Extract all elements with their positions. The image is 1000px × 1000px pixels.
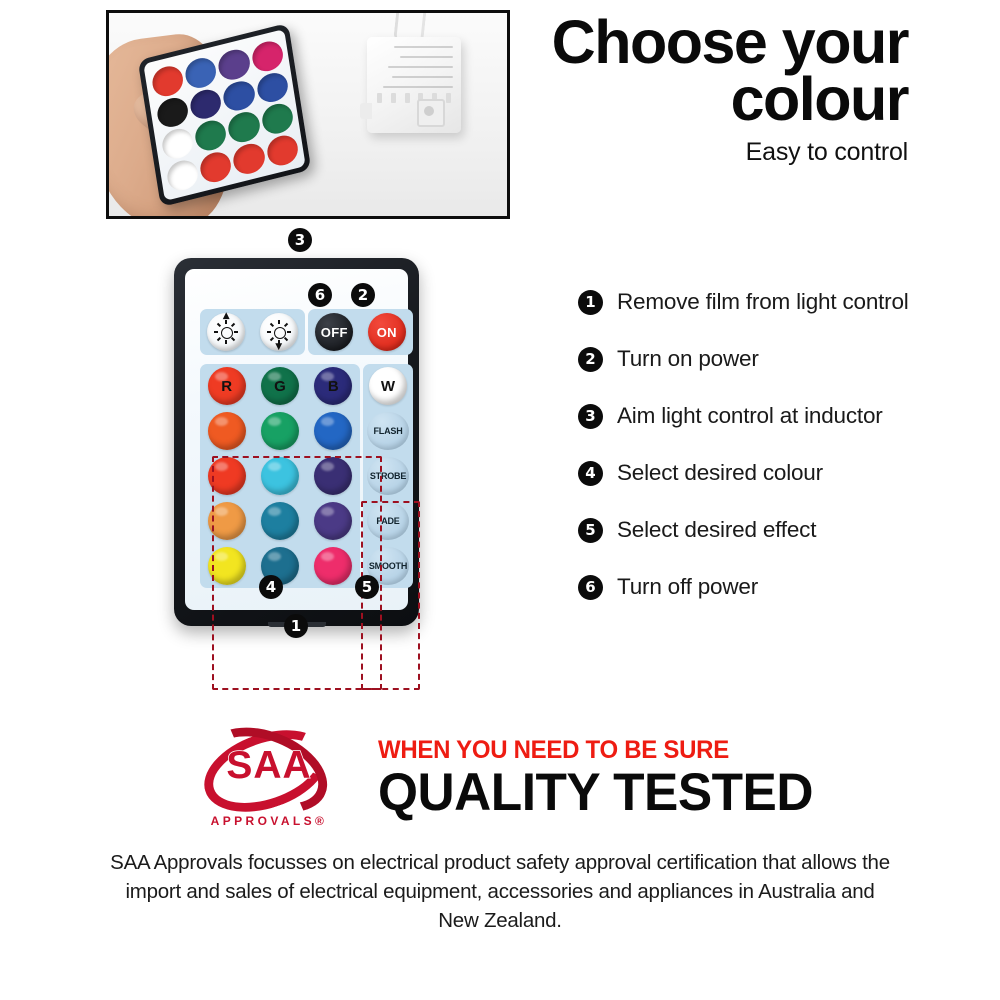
photo-remote-button xyxy=(265,133,300,169)
instruction-step: 6Turn off power xyxy=(578,563,978,611)
instruction-step: 4Select desired colour xyxy=(578,449,978,497)
brightness-up-button[interactable]: ▲ xyxy=(207,313,245,351)
saa-paragraph: SAA Approvals focusses on electrical pro… xyxy=(110,848,890,935)
step-label: Remove film from light control xyxy=(617,289,909,315)
saa-logo: SAA APPROVALS® xyxy=(196,728,342,832)
headline-subtitle: Easy to control xyxy=(552,138,908,167)
product-photo xyxy=(106,10,510,219)
step-number-badge: 1 xyxy=(578,290,603,315)
color-button[interactable] xyxy=(208,457,246,495)
led-controller-box xyxy=(367,37,461,133)
remote-face: ▲ ▼ xyxy=(185,269,408,610)
power-pad: OFF ON xyxy=(308,309,413,355)
photo-remote-button xyxy=(232,141,267,177)
effect-button-label: FADE xyxy=(376,516,399,526)
saa-heading: QUALITY TESTED xyxy=(378,766,813,819)
photo-remote-button-grid xyxy=(150,38,299,193)
power-off-label: OFF xyxy=(321,325,348,340)
remote-control-diagram: ▲ ▼ xyxy=(174,258,419,626)
photo-remote-button xyxy=(255,70,290,106)
step-number-badge: 5 xyxy=(578,518,603,543)
instruction-steps: 1Remove film from light control2Turn on … xyxy=(578,278,978,620)
photo-remote-button xyxy=(160,126,195,162)
color-button[interactable] xyxy=(314,547,352,585)
brightness-down-icon: ▼ xyxy=(268,321,290,343)
color-button[interactable] xyxy=(261,412,299,450)
step-label: Aim light control at inductor xyxy=(617,403,883,429)
saa-logo-subtitle: APPROVALS® xyxy=(196,814,342,828)
callout-badge-5: 5 xyxy=(355,575,379,599)
white-button-label: W xyxy=(381,378,395,395)
effect-button[interactable]: FLASH xyxy=(367,412,409,450)
step-label: Turn on power xyxy=(617,346,759,372)
step-number-badge: 3 xyxy=(578,404,603,429)
color-button[interactable] xyxy=(314,412,352,450)
effect-button-label: SMOOTH xyxy=(369,561,407,571)
color-button[interactable] xyxy=(208,547,246,585)
photo-remote-button xyxy=(165,157,200,193)
color-button[interactable] xyxy=(314,502,352,540)
headline-block: Choose your colour Easy to control xyxy=(552,14,908,167)
white-button-slot: W xyxy=(363,364,413,409)
effect-button-label: FLASH xyxy=(374,426,403,436)
step-label: Select desired effect xyxy=(617,517,816,543)
effect-button-label: STROBE xyxy=(370,471,406,481)
photo-remote-button xyxy=(260,101,295,137)
color-button[interactable]: G xyxy=(261,367,299,405)
effect-button[interactable]: FADE xyxy=(367,502,409,540)
brightness-down-button[interactable]: ▼ xyxy=(260,313,298,351)
controller-mount-tab xyxy=(360,103,372,119)
white-button[interactable]: W xyxy=(369,367,407,405)
callout-badge-6: 6 xyxy=(308,283,332,307)
ir-receiver-port xyxy=(417,99,445,127)
controller-label xyxy=(377,46,453,88)
step-label: Turn off power xyxy=(617,574,758,600)
photo-remote-face xyxy=(143,29,305,201)
instruction-step: 2Turn on power xyxy=(578,335,978,383)
power-on-button[interactable]: ON xyxy=(368,313,406,351)
photo-remote-button xyxy=(155,95,190,131)
instruction-step: 5Select desired effect xyxy=(578,506,978,554)
photo-remote-button xyxy=(250,38,285,74)
step-number-badge: 4 xyxy=(578,461,603,486)
color-button[interactable] xyxy=(261,457,299,495)
color-button-label: B xyxy=(328,378,339,395)
color-button[interactable] xyxy=(208,502,246,540)
callout-badge-4: 4 xyxy=(259,575,283,599)
photo-remote-button xyxy=(227,109,262,145)
callout-badge-3: 3 xyxy=(288,228,312,252)
color-button-grid: RGB xyxy=(200,364,360,588)
remote-top-row: ▲ ▼ xyxy=(200,309,413,355)
callout-badge-1: 1 xyxy=(284,614,308,638)
color-button[interactable] xyxy=(261,502,299,540)
headline-line-2: colour xyxy=(552,71,908,128)
step-number-badge: 6 xyxy=(578,575,603,600)
step-number-badge: 2 xyxy=(578,347,603,372)
color-button[interactable]: B xyxy=(314,367,352,405)
brightness-pad: ▲ ▼ xyxy=(200,309,305,355)
promo-page: Choose your colour Easy to control 1Remo… xyxy=(0,0,1000,1000)
photo-remote-button xyxy=(194,118,229,154)
callout-badge-2: 2 xyxy=(351,283,375,307)
photo-remote-button xyxy=(217,46,252,82)
power-on-label: ON xyxy=(377,325,397,340)
photo-remote-button xyxy=(222,78,257,114)
remote-button-area: RGB W FLASHSTROBEFADESMOOTH xyxy=(200,364,413,588)
page-title: Choose your colour xyxy=(552,14,908,127)
photo-remote-button xyxy=(184,55,219,91)
color-button[interactable]: R xyxy=(208,367,246,405)
color-button-label: G xyxy=(274,378,286,395)
effect-button[interactable]: STROBE xyxy=(367,457,409,495)
instruction-step: 1Remove film from light control xyxy=(578,278,978,326)
color-button-label: R xyxy=(221,378,232,395)
photo-remote-button xyxy=(189,86,224,122)
photo-remote-button xyxy=(199,149,234,185)
photo-remote-button xyxy=(150,63,185,99)
color-button[interactable] xyxy=(314,457,352,495)
color-button[interactable] xyxy=(208,412,246,450)
saa-tagline: WHEN YOU NEED TO BE SURE xyxy=(378,736,729,765)
instruction-step: 3Aim light control at inductor xyxy=(578,392,978,440)
saa-logo-title: SAA xyxy=(196,744,342,788)
step-label: Select desired colour xyxy=(617,460,823,486)
power-off-button[interactable]: OFF xyxy=(315,313,353,351)
effect-button-column: FLASHSTROBEFADESMOOTH xyxy=(363,409,413,588)
brightness-up-icon: ▲ xyxy=(215,321,237,343)
